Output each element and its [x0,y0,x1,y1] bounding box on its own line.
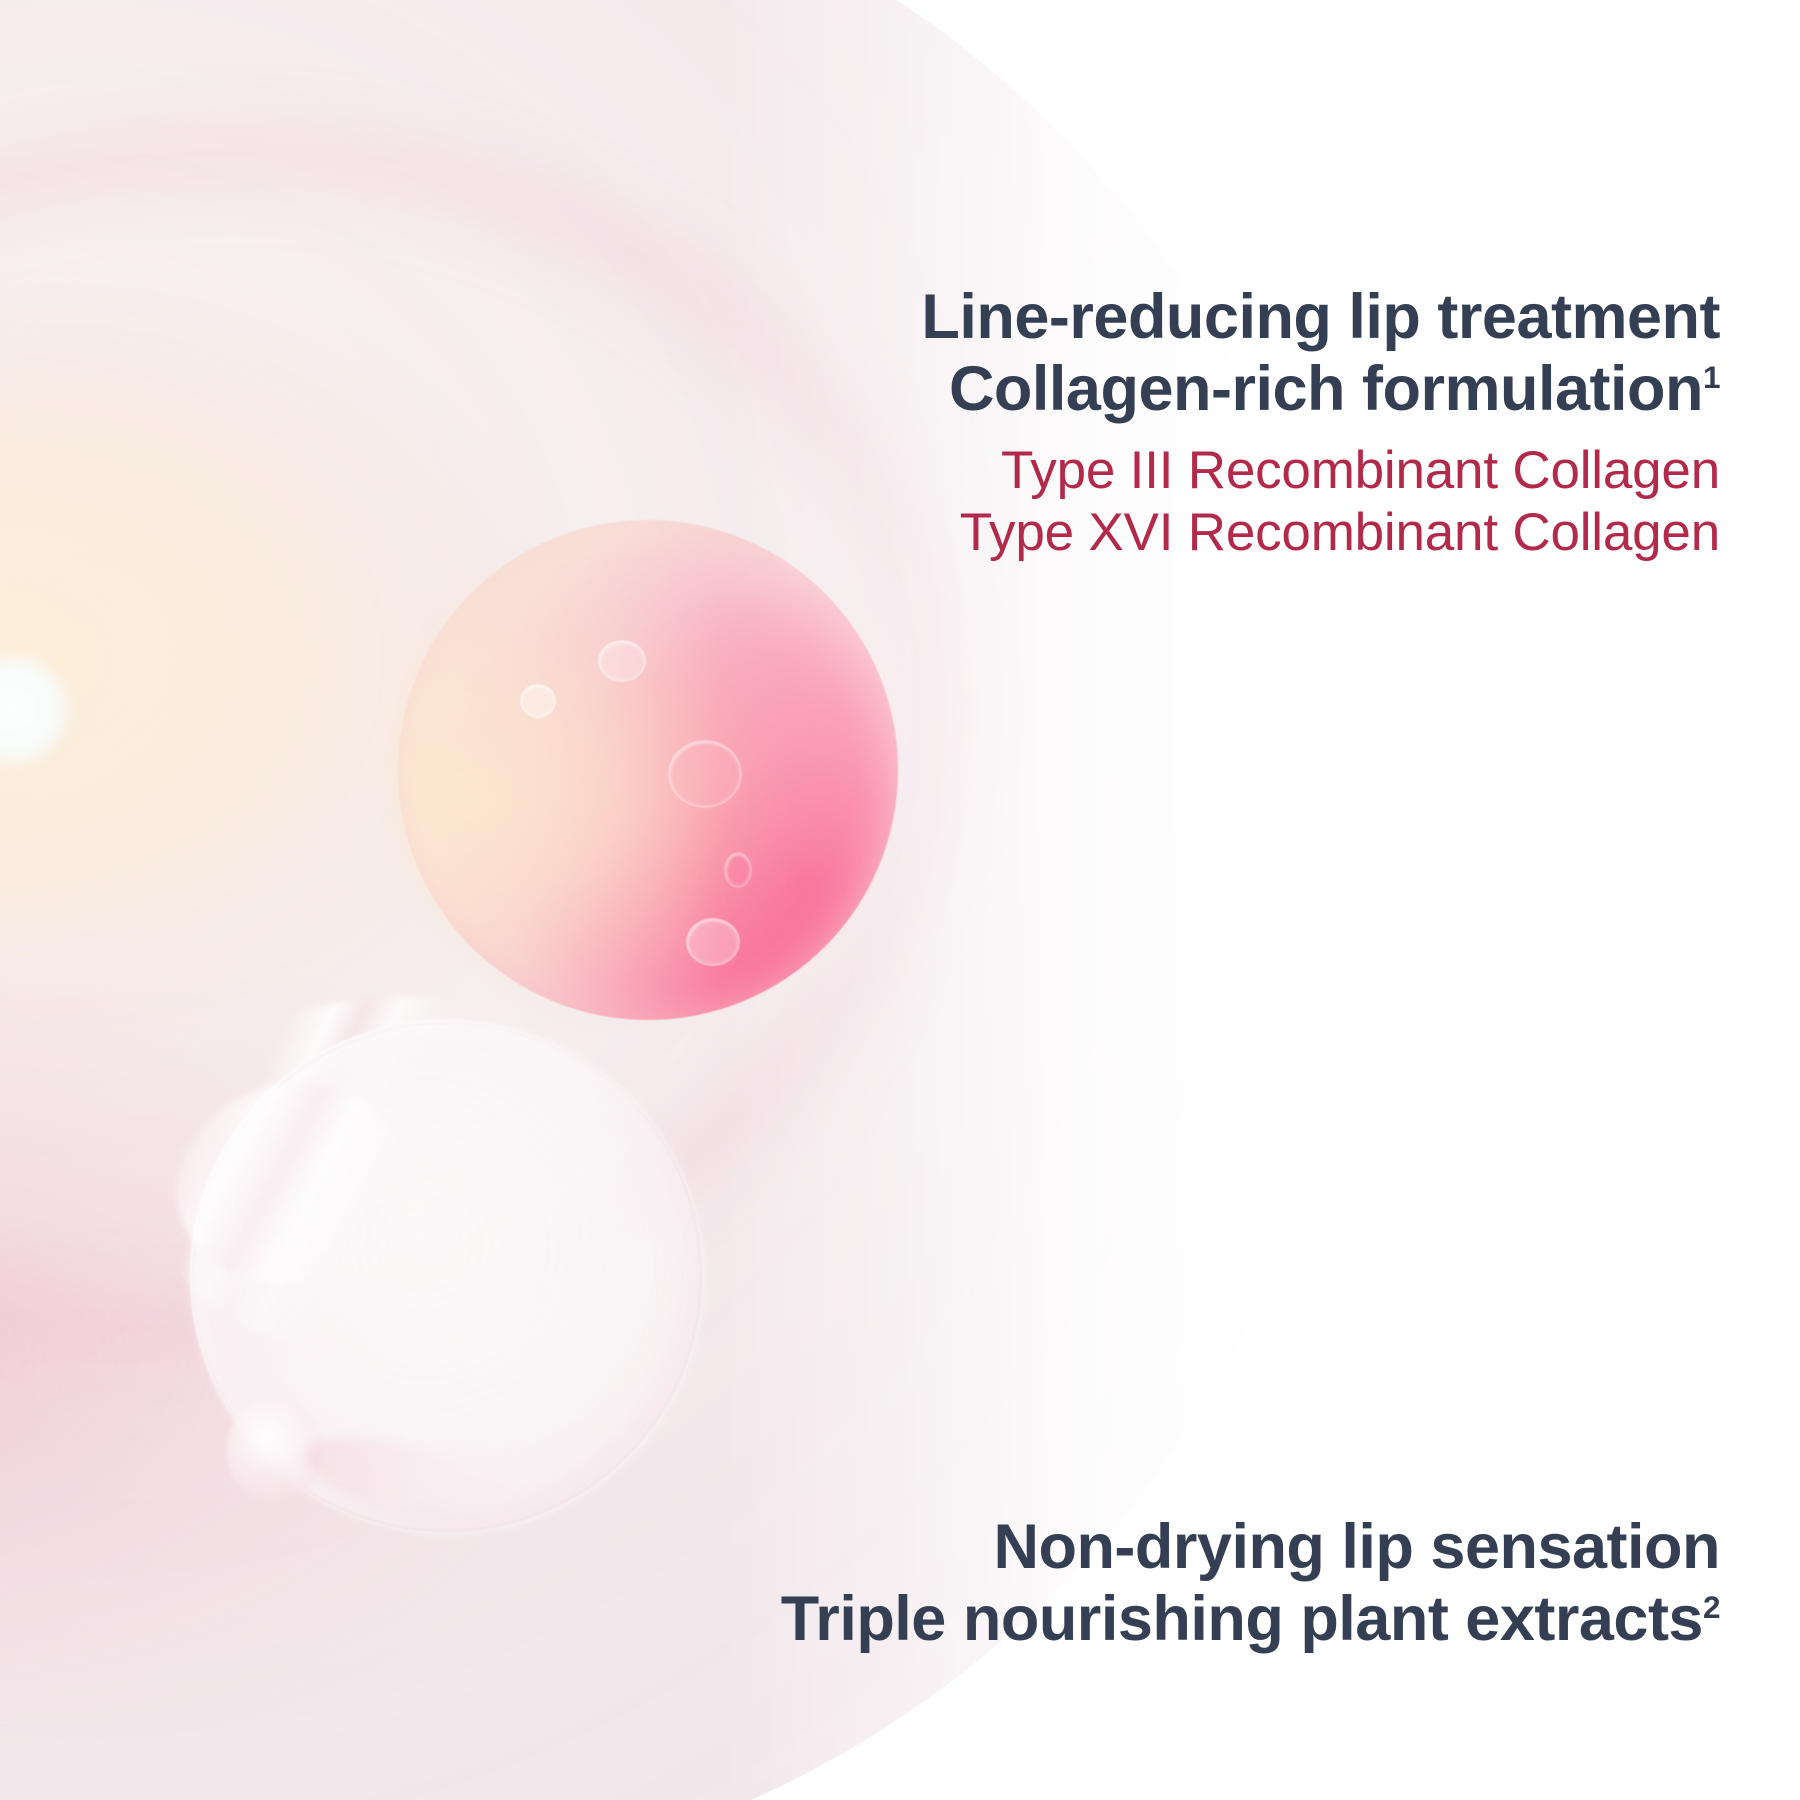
micro-bubble [724,852,752,888]
footline-block: Non-drying lip sensation Triple nourishi… [781,1512,1720,1656]
collagen-sub-group: Type III Recombinant Collagen Type XVI R… [921,440,1720,565]
collagen-type-iii: Type III Recombinant Collagen [921,440,1720,503]
footline-line-2: Triple nourishing plant extracts2 [781,1584,1720,1656]
product-visual-canvas: Line-reducing lip treatment Collagen-ric… [0,0,1800,1800]
headline-line-2: Collagen-rich formulation1 [921,354,1720,426]
micro-bubble [520,684,556,718]
micro-bubble [686,918,740,966]
headline-line-2-text: Collagen-rich formulation [949,354,1703,424]
headline-block: Line-reducing lip treatment Collagen-ric… [921,282,1720,565]
footline-line-1: Non-drying lip sensation [781,1512,1720,1584]
micro-bubble [598,640,646,682]
headline-line-1: Line-reducing lip treatment [921,282,1720,354]
collagen-type-xvi: Type XVI Recombinant Collagen [921,502,1720,565]
micro-bubble [668,740,742,808]
footline-line-2-text: Triple nourishing plant extracts [781,1584,1703,1654]
footline-footnote-marker: 2 [1703,1589,1720,1625]
headline-footnote-marker: 1 [1703,359,1720,395]
